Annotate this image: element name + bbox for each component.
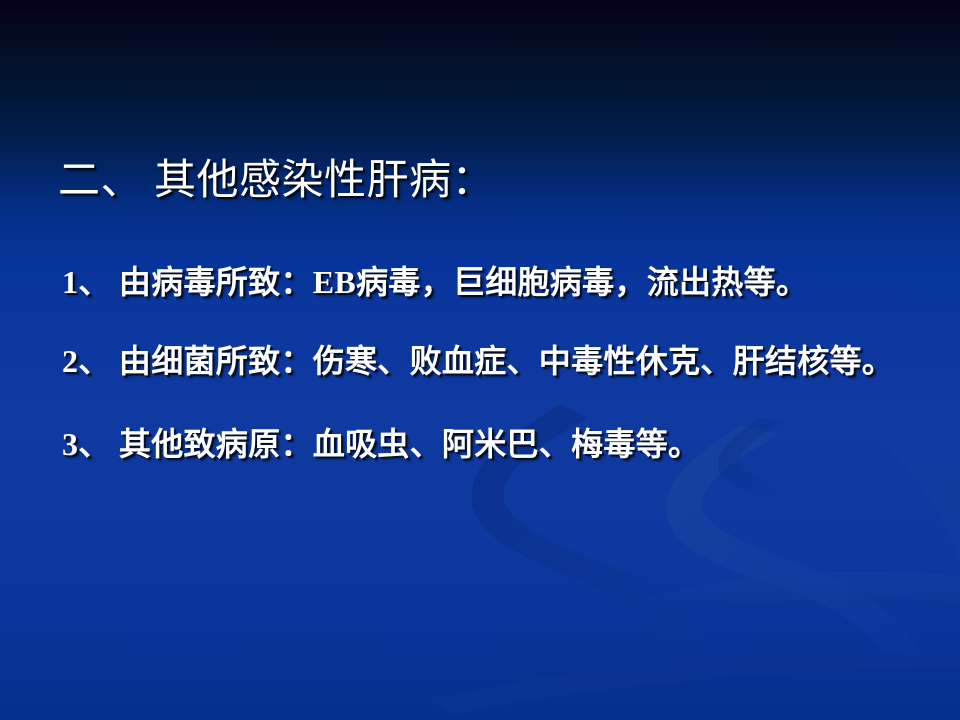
bullet-item-1: 1、 由病毒所致：EB病毒，巨细胞病毒，流出热等。 [62,262,932,303]
bullet-marker-1: 1、 [62,264,111,300]
bullet-item-2: 2、 由细菌所致：伤寒、败血症、中毒性休克、肝结核等。 [62,341,932,382]
bullet-text-1: 由病毒所致：EB病毒，巨细胞病毒，流出热等。 [111,264,809,300]
presentation-slide: 二、 其他感染性肝病： 1、 由病毒所致：EB病毒，巨细胞病毒，流出热等。 2、… [0,0,960,720]
bullet-item-3: 3、 其他致病原：血吸虫、阿米巴、梅毒等。 [62,424,932,465]
bullet-text-2: 由细菌所致：伤寒、败血症、中毒性休克、肝结核等。 [111,343,895,379]
slide-content: 二、 其他感染性肝病： 1、 由病毒所致：EB病毒，巨细胞病毒，流出热等。 2、… [0,0,960,720]
bullet-text-3: 其他致病原：血吸虫、阿米巴、梅毒等。 [111,426,701,462]
bullet-marker-3: 3、 [62,426,111,462]
bullet-marker-2: 2、 [62,343,111,379]
slide-title: 二、 其他感染性肝病： [58,158,494,205]
bullet-list: 1、 由病毒所致：EB病毒，巨细胞病毒，流出热等。 2、 由细菌所致：伤寒、败血… [62,262,932,465]
